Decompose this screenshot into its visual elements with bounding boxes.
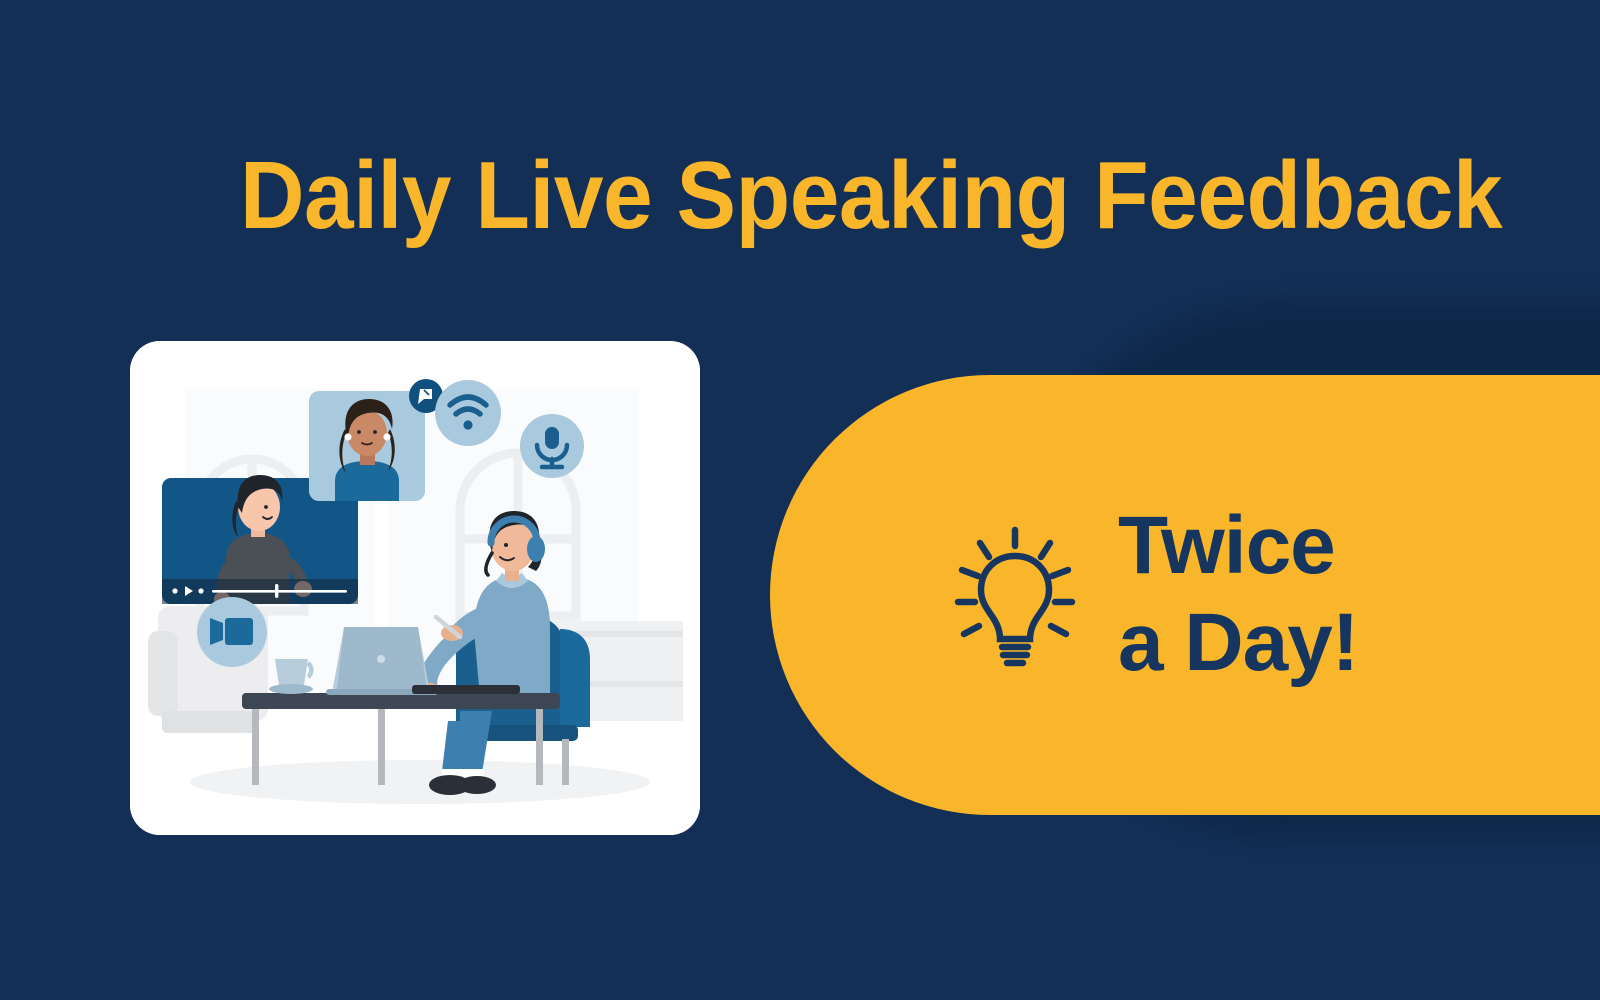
video-player-controls bbox=[162, 579, 358, 604]
participant-video-tile bbox=[309, 379, 443, 501]
video-camera-icon bbox=[197, 597, 267, 667]
rewind-button bbox=[172, 588, 177, 593]
wifi-icon bbox=[435, 380, 501, 446]
promo-line-1: Twice bbox=[1118, 500, 1335, 591]
promo-banner: Daily Live Speaking Feedback bbox=[0, 0, 1600, 1000]
page-title: Daily Live Speaking Feedback bbox=[240, 148, 1319, 244]
keyboard bbox=[412, 685, 520, 694]
promo-panel-text: Twice a Day! bbox=[1118, 498, 1358, 692]
progress-slider-handle bbox=[275, 584, 278, 598]
microphone-icon bbox=[520, 414, 584, 478]
forward-button bbox=[198, 588, 203, 593]
promo-panel: Twice a Day! bbox=[770, 375, 1600, 815]
illustration-card bbox=[130, 341, 700, 835]
progress-slider bbox=[212, 590, 347, 593]
promo-line-2: a Day! bbox=[1118, 595, 1358, 692]
lightbulb-icon bbox=[950, 520, 1080, 670]
online-video-call-lesson-illustration bbox=[130, 341, 700, 835]
